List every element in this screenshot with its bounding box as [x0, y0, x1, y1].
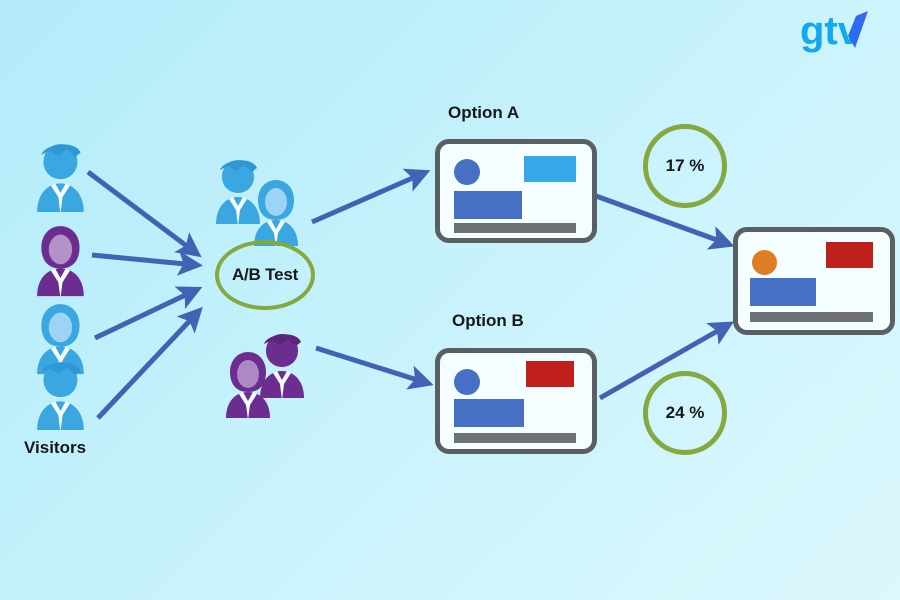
option-a-avatar-circle [454, 159, 480, 185]
winner-footer-bar [750, 312, 873, 322]
diagram-canvas: gtv [0, 0, 900, 600]
option-b-conversion-value: 24 % [666, 403, 705, 423]
group-a-female-icon [254, 180, 298, 248]
winner-banner [826, 242, 873, 268]
winner-avatar-circle [752, 250, 777, 275]
gtv-logo-mark: gtv [800, 8, 878, 54]
option-a-footer-bar [454, 223, 576, 233]
winner-content-block [750, 278, 816, 306]
option-a-card[interactable] [435, 139, 597, 243]
option-b-content-block [454, 399, 524, 427]
group-b-male-icon [260, 334, 304, 400]
visitor-female-1-icon [37, 226, 84, 298]
option-b-title: Option B [452, 311, 524, 331]
option-b-card[interactable] [435, 348, 597, 454]
option-b-avatar-circle [454, 369, 480, 395]
ab-test-node-label: A/B Test [232, 265, 298, 285]
option-a-banner [524, 156, 576, 182]
visitor-male-1-icon [37, 144, 84, 214]
option-a-conversion-value: 17 % [666, 156, 705, 176]
group-a-male-icon [216, 160, 260, 226]
option-a-title: Option A [448, 103, 519, 123]
gtv-logo: gtv [800, 8, 878, 59]
winning-variant-card[interactable] [733, 227, 895, 335]
option-b-conversion-badge: 24 % [643, 371, 727, 455]
visitors-label: Visitors [24, 438, 86, 458]
option-b-banner [526, 361, 574, 387]
option-b-footer-bar [454, 433, 576, 443]
option-a-content-block [454, 191, 522, 219]
option-a-conversion-badge: 17 % [643, 124, 727, 208]
ab-test-node[interactable]: A/B Test [215, 240, 315, 310]
